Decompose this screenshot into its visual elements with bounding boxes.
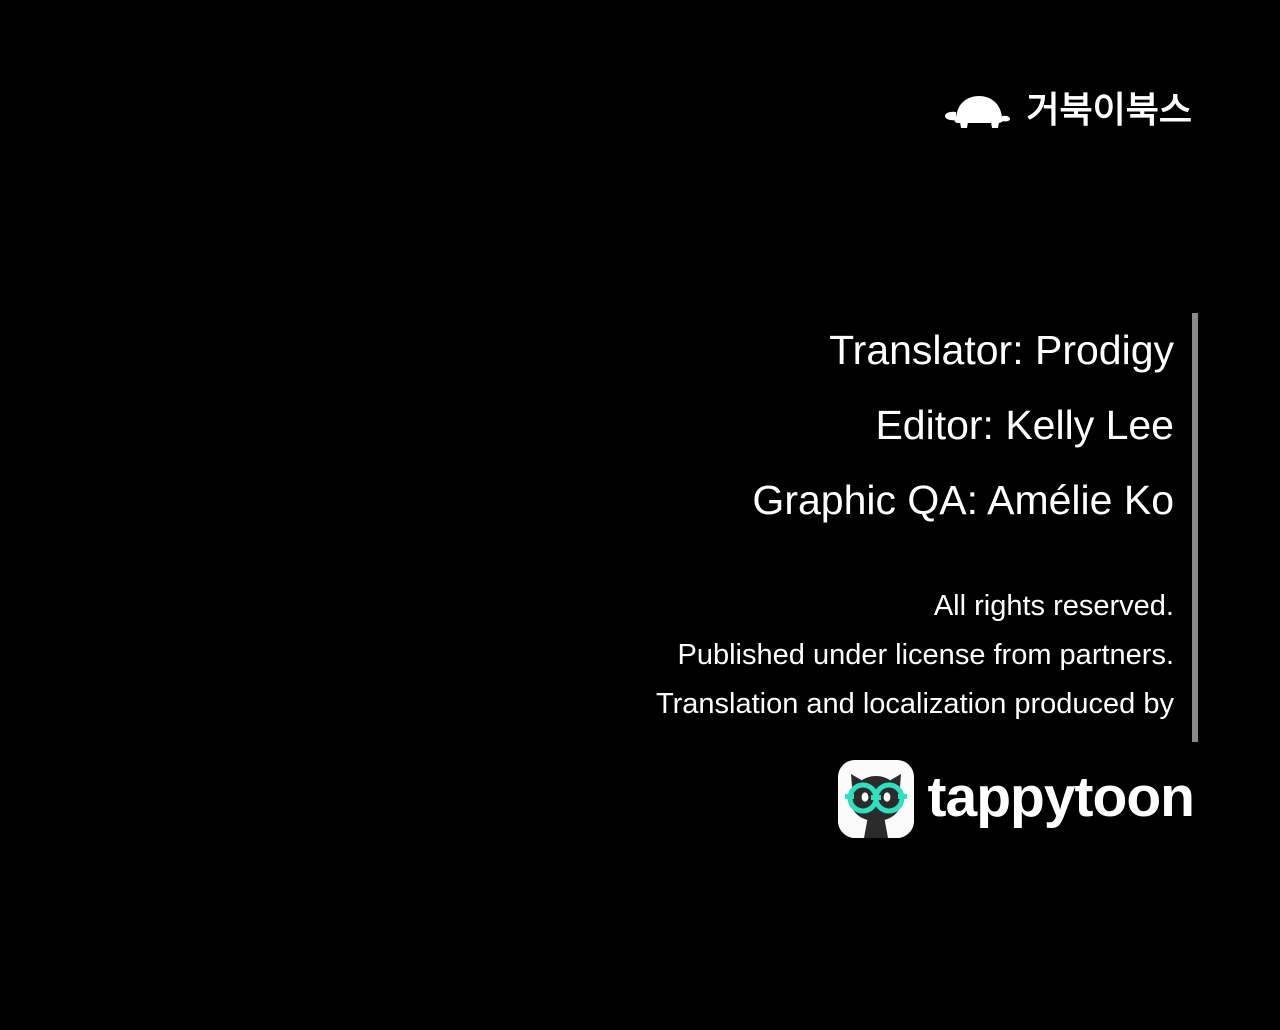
credit-line-editor: Editor: Kelly Lee xyxy=(378,388,1174,463)
license-line-localization: Translation and localization produced by xyxy=(378,680,1174,729)
credits-block: Translator: Prodigy Editor: Kelly Lee Gr… xyxy=(378,313,1198,742)
publisher-logo: 거북이북스 xyxy=(940,90,1192,130)
tappytoon-cat-icon xyxy=(838,760,914,838)
credit-line-translator: Translator: Prodigy xyxy=(378,313,1174,388)
license-line-published: Published under license from partners. xyxy=(378,631,1174,680)
turtle-icon xyxy=(940,90,1012,130)
tappytoon-logo: tappytoon xyxy=(838,760,1194,838)
credit-line-graphic-qa: Graphic QA: Amélie Ko xyxy=(378,463,1174,538)
license-line-rights: All rights reserved. xyxy=(378,582,1174,631)
tappytoon-wordmark: tappytoon xyxy=(928,769,1194,826)
publisher-name: 거북이북스 xyxy=(1026,92,1192,128)
license-block: All rights reserved. Published under lic… xyxy=(378,582,1174,729)
